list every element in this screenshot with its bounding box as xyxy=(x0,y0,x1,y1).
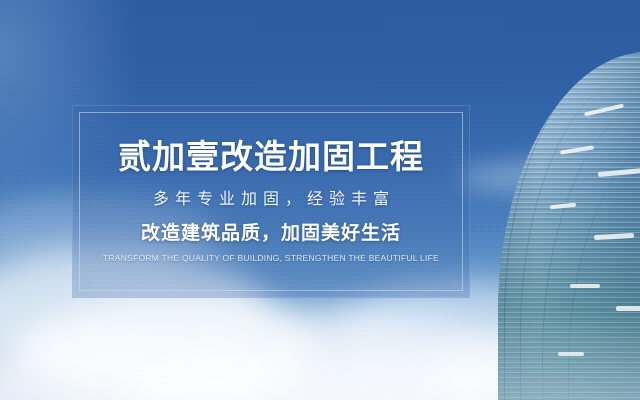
english-tagline: TRANSFORM THE QUALITY OF BUILDING, STREN… xyxy=(103,254,439,263)
panel-content: 贰加壹改造加固工程 多年专业加固，经验丰富 改造建筑品质，加固美好生活 TRAN… xyxy=(72,105,470,298)
page-title: 贰加壹改造加固工程 xyxy=(118,140,424,173)
hero-banner: 贰加壹改造加固工程 多年专业加固，经验丰富 改造建筑品质，加固美好生活 TRAN… xyxy=(0,0,640,400)
skyscraper-image xyxy=(498,52,640,400)
headline-panel: 贰加壹改造加固工程 多年专业加固，经验丰富 改造建筑品质，加固美好生活 TRAN… xyxy=(72,105,470,298)
tower-atmospheric-haze xyxy=(498,310,640,400)
slogan-text: 改造建筑品质，加固美好生活 xyxy=(141,224,401,243)
subtitle-tagline: 多年专业加固，经验丰富 xyxy=(147,192,395,208)
